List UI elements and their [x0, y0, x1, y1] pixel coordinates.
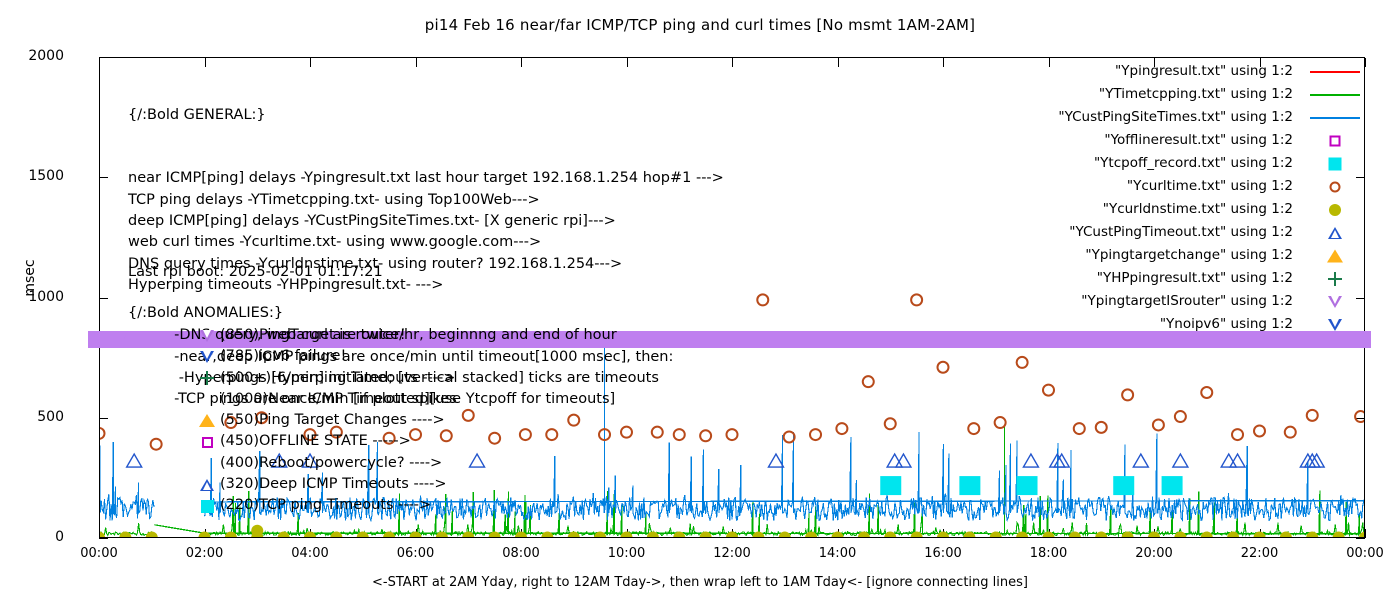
legend-label: "YHPpingresult.txt" using 1:2: [1097, 267, 1307, 290]
x-tick-label: 14:00: [803, 546, 873, 561]
anomaly-label: (850)PingTarget is router!: [218, 325, 406, 346]
pingtarget-is-router-triangle-icon: [1328, 296, 1342, 308]
legend-key: [1307, 154, 1363, 174]
x-tick-label: 00:00: [64, 546, 134, 561]
x-axis-caption: <-START at 2AM Yday, right to 12AM Tday-…: [0, 575, 1400, 590]
legend-key: [1307, 223, 1363, 243]
y-tick-mark: [1356, 538, 1365, 539]
y-tick-label: 1000: [0, 289, 64, 305]
legend-label: "YpingtargetISrouter" using 1:2: [1081, 290, 1307, 313]
legend-entry: "YpingtargetISrouter" using 1:2: [943, 290, 1363, 313]
legend-label: "Ycurldnstime.txt" using 1:2: [1103, 198, 1307, 221]
legend-entry: "Ycurldnstime.txt" using 1:2: [943, 198, 1363, 221]
noipv6-triangle-icon: [1328, 319, 1342, 331]
y-tick-label: 1500: [0, 168, 64, 184]
anomaly-key: [196, 431, 218, 452]
anomaly-label: (220)TCP ping Timeouts ---->: [218, 495, 431, 516]
legend-key: [1307, 85, 1363, 105]
anomaly-label: (500+)Hyperping Timeouts ---->: [218, 368, 455, 389]
x-tick-label: 02:00: [170, 546, 240, 561]
anomaly-key: [196, 453, 218, 474]
x-tick-label: 04:00: [275, 546, 345, 561]
anomaly-item: (550)Ping Target Changes ---->: [196, 410, 457, 431]
legend-label: "YCustPingTimeout.txt" using 1:2: [1069, 221, 1307, 244]
legend-entry: "Ytcpoff_record.txt" using 1:2: [943, 152, 1363, 175]
anomaly-label: (450)OFFLINE STATE ----->: [218, 431, 411, 452]
offline-square-icon: [202, 437, 213, 448]
legend-label: "Ypingresult.txt" using 1:2: [1115, 60, 1307, 83]
legend-entry: "YCustPingSiteTimes.txt" using 1:2: [943, 106, 1363, 129]
anomaly-key: [196, 368, 218, 389]
legend-entry: "Ypingtargetchange" using 1:2: [943, 244, 1363, 267]
legend-label: "Yofflineresult.txt" using 1:2: [1104, 129, 1307, 152]
legend-key: [1307, 269, 1363, 289]
x-tick-label: 08:00: [486, 546, 556, 561]
x-tick-label: 20:00: [1119, 546, 1189, 561]
anomaly-key: [196, 389, 218, 410]
hyperping-plus-icon: [1328, 272, 1342, 286]
deep-icmp-timeout-triangle-icon: [1328, 227, 1342, 239]
anomaly-label: (550)Ping Target Changes ---->: [218, 410, 445, 431]
anomaly-item: (785)ipv6 failure!: [196, 346, 457, 367]
anomaly-label: (1000)Near ICMP Timeout spikes: [218, 389, 457, 410]
y-tick-label: 2000: [0, 48, 64, 64]
x-tick-label: 00:00: [1330, 546, 1400, 561]
legend-entry: "Ypingresult.txt" using 1:2: [943, 60, 1363, 83]
legend-entry: "YCustPingTimeout.txt" using 1:2: [943, 221, 1363, 244]
legend-label: "Ynoipv6" using 1:2: [1160, 313, 1307, 336]
legend-label: "YTimetcpping.txt" using 1:2: [1099, 83, 1307, 106]
anomaly-item: (1000)Near ICMP Timeout spikes: [196, 389, 457, 410]
chart-legend: "Ypingresult.txt" using 1:2"YTimetcpping…: [943, 60, 1363, 336]
legend-label: "YCustPingSiteTimes.txt" using 1:2: [1058, 106, 1307, 129]
anomaly-item: (400)Reboot/powercycle? ---->: [196, 453, 457, 474]
deep-icmp-timeout-triangle-icon: [200, 479, 214, 491]
x-tick-label: 06:00: [381, 546, 451, 561]
y-tick-label: 500: [0, 409, 64, 425]
y-tick-label: 0: [0, 529, 64, 545]
anomaly-label: (785)ipv6 failure!: [218, 346, 346, 367]
legend-entry: "YTimetcpping.txt" using 1:2: [943, 83, 1363, 106]
hyperping-plus-icon: [200, 371, 214, 385]
x-tick-label: 18:00: [1014, 546, 1084, 561]
x-tick-label: 22:00: [1225, 546, 1295, 561]
anomaly-key: [196, 410, 218, 431]
anomaly-item: (220)TCP ping Timeouts ---->: [196, 495, 457, 516]
legend-label: "Ypingtargetchange" using 1:2: [1085, 244, 1307, 267]
anomaly-item: (850)PingTarget is router!: [196, 325, 457, 346]
legend-line-swatch: [1310, 117, 1360, 119]
curltime-circle-icon: [1330, 181, 1341, 192]
x-tick-mark: [1365, 529, 1366, 538]
general-line: TCP ping delays -YTimetcpping.txt- using…: [128, 190, 724, 211]
anomaly-item: (500+)Hyperping Timeouts ---->: [196, 368, 457, 389]
y-axis-label: msec: [22, 238, 38, 318]
noipv6-triangle-icon: [200, 351, 214, 363]
legend-key: [1307, 246, 1363, 266]
anomaly-label: (320)Deep ICMP Timeouts ---->: [218, 474, 447, 495]
legend-key: [1307, 108, 1363, 128]
pingtarget-is-router-triangle-icon: [200, 330, 214, 342]
x-tick-label: 12:00: [697, 546, 767, 561]
pingtargetchange-triangle-icon: [1327, 249, 1343, 262]
pingtargetchange-triangle-icon: [199, 414, 215, 427]
legend-entry: "Yofflineresult.txt" using 1:2: [943, 129, 1363, 152]
legend-entry: "YHPpingresult.txt" using 1:2: [943, 267, 1363, 290]
anomaly-key: [196, 495, 218, 516]
dnstime-dot-icon: [1329, 204, 1341, 216]
x-tick-label: 16:00: [908, 546, 978, 561]
legend-label: "Ytcpoff_record.txt" using 1:2: [1094, 152, 1307, 175]
anomalies-list: (850)PingTarget is router!(785)ipv6 fail…: [196, 325, 457, 517]
legend-entry: "Ycurltime.txt" using 1:2: [943, 175, 1363, 198]
chart-title: pi14 Feb 16 near/far ICMP/TCP ping and c…: [0, 16, 1400, 34]
anomalies-heading: {/:Bold ANOMALIES:}: [128, 305, 283, 321]
legend-key: [1307, 131, 1363, 151]
gnuplot-chart: pi14 Feb 16 near/far ICMP/TCP ping and c…: [0, 0, 1400, 600]
anomaly-label: (400)Reboot/powercycle? ---->: [218, 453, 442, 474]
anomaly-key: [196, 346, 218, 367]
last-boot-line: Last rpi boot: 2025-02-01 01:17:21: [128, 262, 673, 283]
x-tick-mark: [1365, 58, 1366, 67]
legend-key: [1307, 177, 1363, 197]
legend-key: [1307, 62, 1363, 82]
x-tick-label: 10:00: [592, 546, 662, 561]
legend-line-swatch: [1310, 71, 1360, 73]
offline-square-icon: [1330, 135, 1341, 146]
legend-key: [1307, 200, 1363, 220]
legend-entry: "Ynoipv6" using 1:2: [943, 313, 1363, 336]
anomaly-key: [196, 325, 218, 346]
tcp-timeout-square-icon: [1329, 157, 1342, 170]
legend-key: [1307, 292, 1363, 312]
y-tick-mark: [99, 538, 108, 539]
legend-line-swatch: [1310, 94, 1360, 96]
general-line: near ICMP[ping] delays -Ypingresult.txt …: [128, 168, 724, 189]
anomaly-item: (450)OFFLINE STATE ----->: [196, 431, 457, 452]
anomaly-item: (320)Deep ICMP Timeouts ---->: [196, 474, 457, 495]
anomaly-key: [196, 474, 218, 495]
tcp-timeout-square-icon: [201, 500, 214, 513]
general-heading: {/:Bold GENERAL:}: [128, 105, 724, 126]
legend-key: [1307, 315, 1363, 335]
legend-label: "Ycurltime.txt" using 1:2: [1127, 175, 1307, 198]
